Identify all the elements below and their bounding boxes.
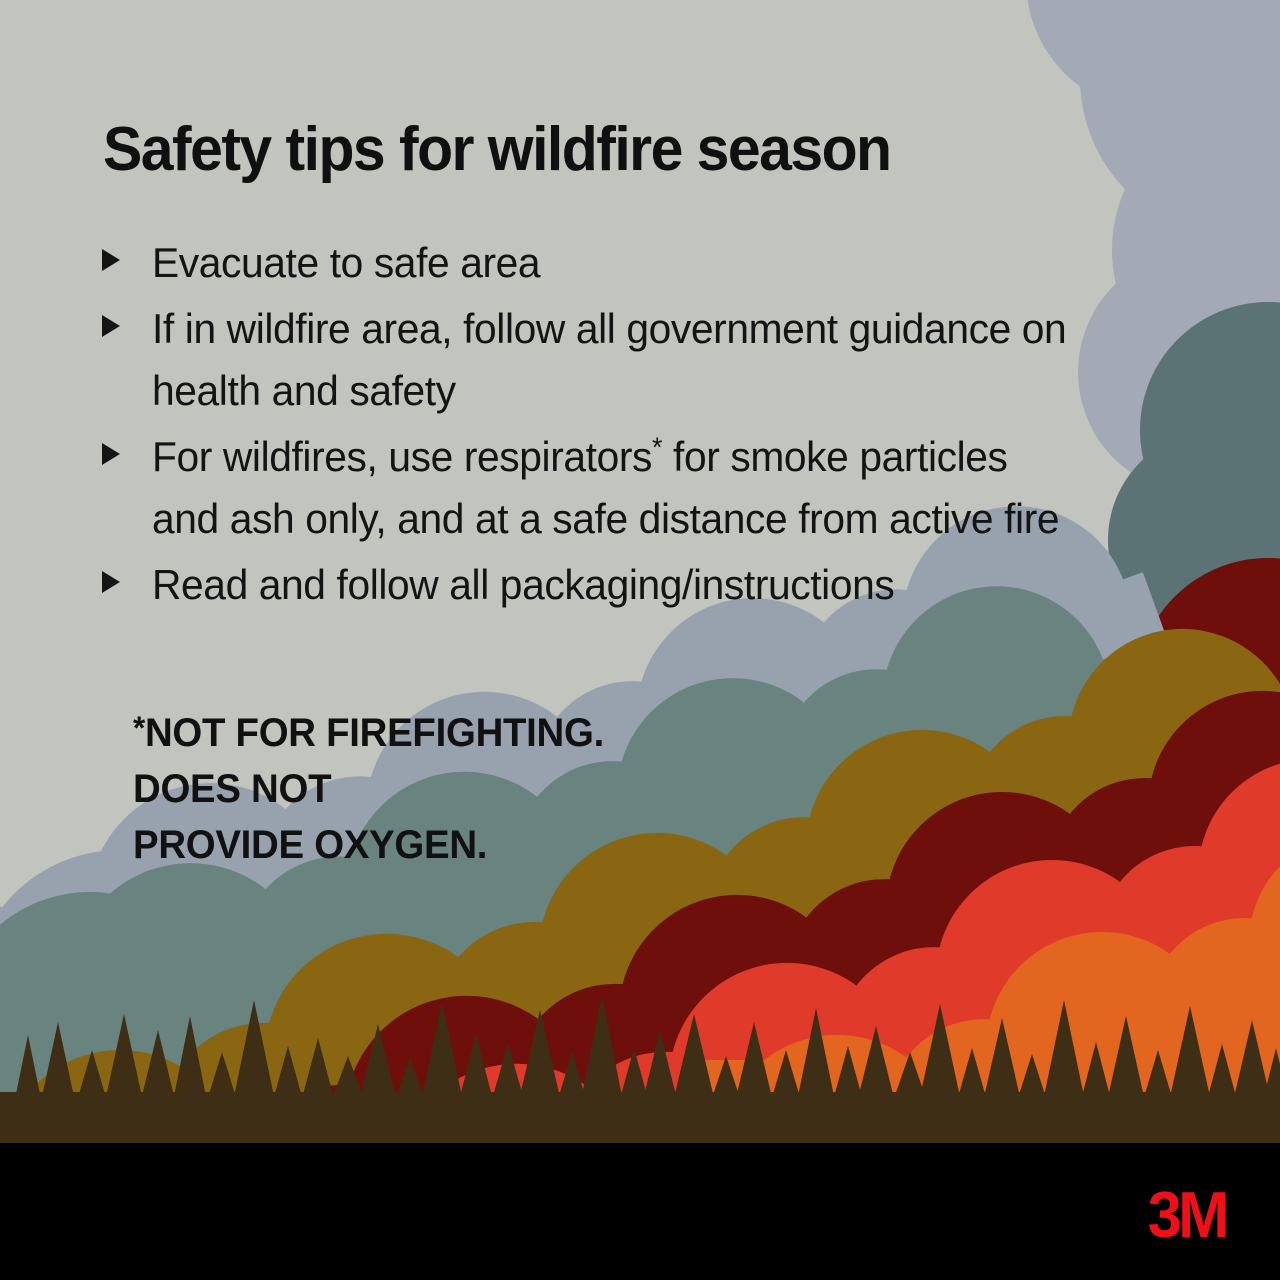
disclaimer-line-1: *NOT FOR FIREFIGHTING.: [133, 705, 863, 761]
list-item-label: If in wildfire area, follow all governme…: [152, 298, 1081, 422]
list-item-label-part1: For wildfires, use respirators: [152, 433, 652, 480]
triangle-right-bullet-icon: [100, 426, 152, 467]
disclaimer-text: *NOT FOR FIREFIGHTING. DOES NOT PROVIDE …: [133, 705, 863, 873]
list-item: Evacuate to safe area: [100, 232, 1110, 294]
list-item: For wildfires, use respirators* for smok…: [100, 426, 1110, 550]
disclaimer-line-1-label: NOT FOR FIREFIGHTING.: [145, 711, 604, 755]
list-item-label: Evacuate to safe area: [152, 232, 1081, 294]
wildfire-safety-poster: Safety tips for wildfire season Evacuate…: [0, 0, 1280, 1280]
page-title: Safety tips for wildfire season: [103, 119, 1139, 181]
disclaimer-asterisk: *: [133, 709, 145, 746]
triangle-right-bullet-icon: [100, 298, 152, 339]
triangle-right-bullet-icon: [100, 232, 152, 273]
list-item-label: For wildfires, use respirators* for smok…: [152, 426, 1081, 550]
list-item: Read and follow all packaging/instructio…: [100, 554, 1110, 616]
footnote-asterisk: *: [652, 432, 662, 463]
disclaimer-line-2: DOES NOT: [133, 761, 863, 817]
list-item: If in wildfire area, follow all governme…: [100, 298, 1110, 422]
list-item-label: Read and follow all packaging/instructio…: [152, 554, 1081, 616]
footer-bar: [0, 1143, 1280, 1280]
disclaimer-line-3: PROVIDE OXYGEN.: [133, 817, 863, 873]
safety-tips-list: Evacuate to safe area If in wildfire are…: [100, 232, 1110, 620]
brand-logo-3m: 3M: [1148, 1183, 1226, 1248]
triangle-right-bullet-icon: [100, 554, 152, 595]
